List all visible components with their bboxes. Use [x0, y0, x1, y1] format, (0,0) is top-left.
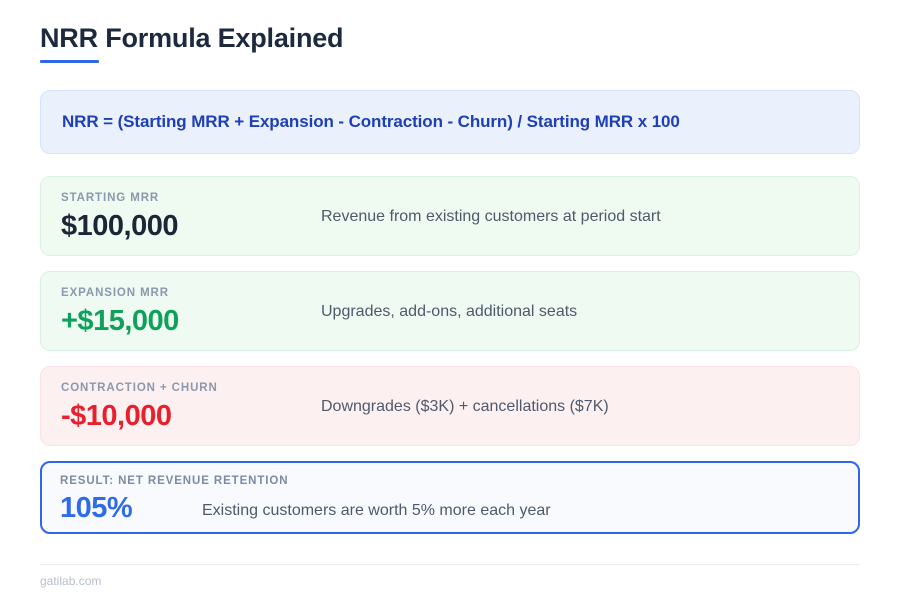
result-description: Existing customers are worth 5% more eac… [202, 463, 551, 536]
row-expansion-mrr: EXPANSION MRR +$15,000 Upgrades, add-ons… [40, 271, 860, 351]
page-title: NRR Formula Explained [40, 22, 860, 54]
row-label: CONTRACTION + CHURN [61, 383, 218, 395]
row-value: -$10,000 [61, 400, 218, 433]
title-block: NRR Formula Explained [40, 0, 860, 63]
row-description: Revenue from existing customers at perio… [321, 177, 661, 257]
row-description: Upgrades, add-ons, additional seats [321, 272, 577, 352]
row-starting-mrr: STARTING MRR $100,000 Revenue from exist… [40, 176, 860, 256]
row-description: Downgrades ($3K) + cancellations ($7K) [321, 367, 609, 447]
formula-banner: NRR = (Starting MRR + Expansion - Contra… [40, 90, 860, 154]
title-underline-accent [40, 60, 99, 63]
row-result-nrr: RESULT: NET REVENUE RETENTION 105% Exist… [40, 461, 860, 534]
footer-divider [40, 564, 860, 565]
formula-text: NRR = (Starting MRR + Expansion - Contra… [62, 112, 680, 132]
footer: gatilab.com [40, 564, 860, 588]
row-value: $100,000 [61, 210, 178, 243]
row-left-group: CONTRACTION + CHURN -$10,000 [61, 383, 218, 433]
row-left-group: STARTING MRR $100,000 [61, 193, 178, 243]
infographic-page: NRR Formula Explained NRR = (Starting MR… [0, 0, 900, 600]
component-rows: STARTING MRR $100,000 Revenue from exist… [40, 176, 860, 534]
row-left-group: EXPANSION MRR +$15,000 [61, 288, 179, 338]
row-value: +$15,000 [61, 305, 179, 338]
row-label: STARTING MRR [61, 193, 178, 205]
footer-site-label: gatilab.com [40, 574, 860, 588]
row-label: EXPANSION MRR [61, 288, 179, 300]
row-contraction-churn: CONTRACTION + CHURN -$10,000 Downgrades … [40, 366, 860, 446]
